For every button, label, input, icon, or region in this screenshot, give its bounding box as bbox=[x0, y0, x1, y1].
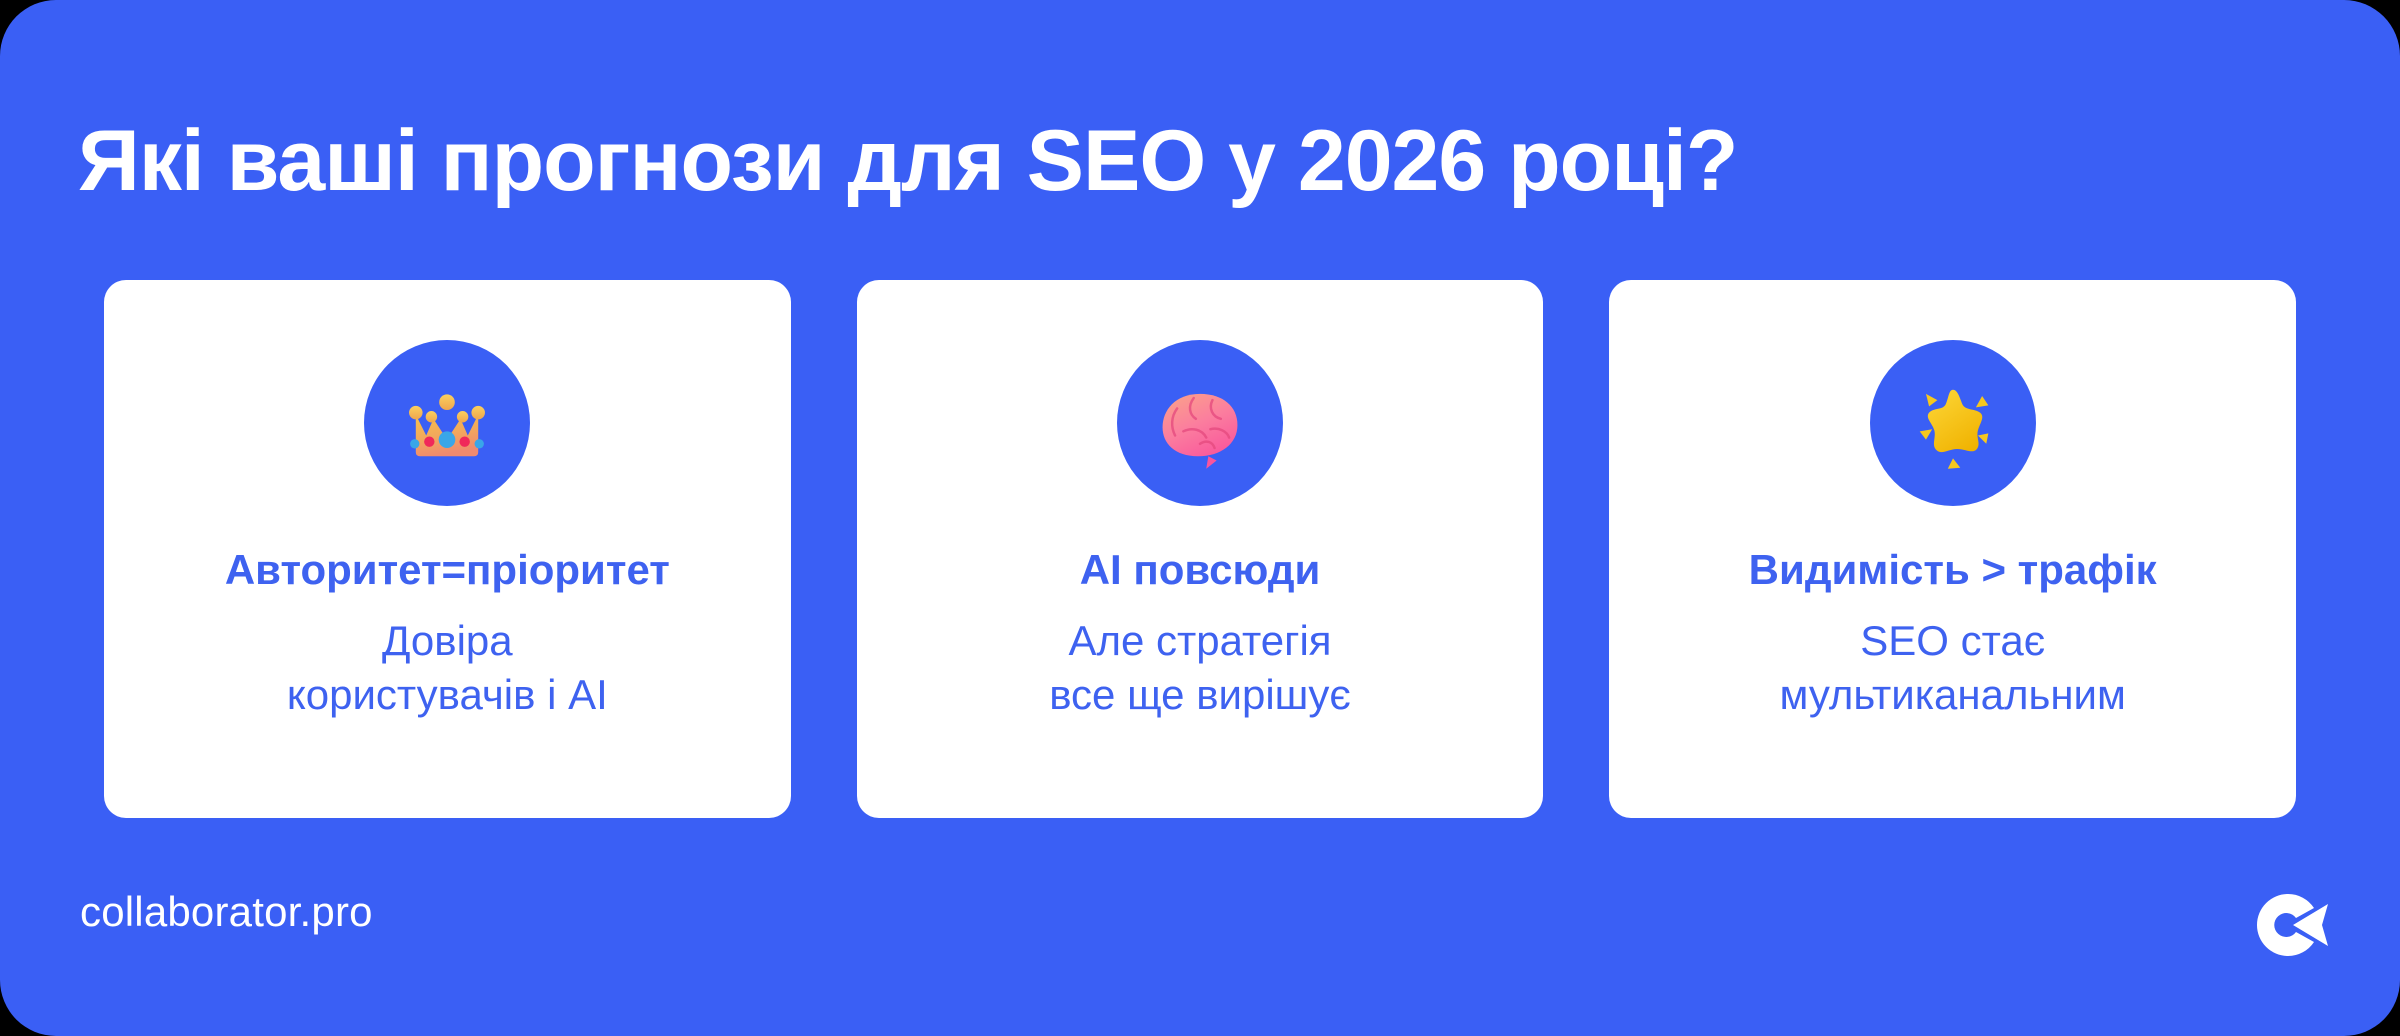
crown-icon bbox=[395, 371, 499, 475]
card-body: Довіра користувачів і AI bbox=[263, 614, 632, 722]
icon-badge-1 bbox=[364, 340, 530, 506]
collaborator-logo bbox=[2256, 890, 2334, 960]
card-heading: Авторитет=пріоритет bbox=[225, 546, 670, 594]
card-heading: AI повсюди bbox=[1080, 546, 1321, 594]
card-body: Але стратегія все ще вирішує bbox=[1025, 614, 1375, 722]
prediction-cards-row: Авторитет=пріоритет Довіра користувачів … bbox=[104, 280, 2296, 818]
footer-website-url[interactable]: collaborator.pro bbox=[80, 888, 373, 936]
prediction-card-2: AI повсюди Але стратегія все ще вирішує bbox=[857, 280, 1544, 818]
card-body: SEO стає мультиканальним bbox=[1756, 614, 2150, 722]
glowing-star-icon bbox=[1901, 371, 2005, 475]
brain-icon bbox=[1148, 371, 1252, 475]
icon-badge-2 bbox=[1117, 340, 1283, 506]
poster-canvas: Які ваші прогнози для SEO у 2026 році? bbox=[0, 0, 2400, 1036]
card-heading: Видимість > трафік bbox=[1749, 546, 2157, 594]
page-title: Які ваші прогнози для SEO у 2026 році? bbox=[78, 116, 2318, 206]
prediction-card-3: Видимість > трафік SEO стає мультиканаль… bbox=[1609, 280, 2296, 818]
prediction-card-1: Авторитет=пріоритет Довіра користувачів … bbox=[104, 280, 791, 818]
icon-badge-3 bbox=[1870, 340, 2036, 506]
